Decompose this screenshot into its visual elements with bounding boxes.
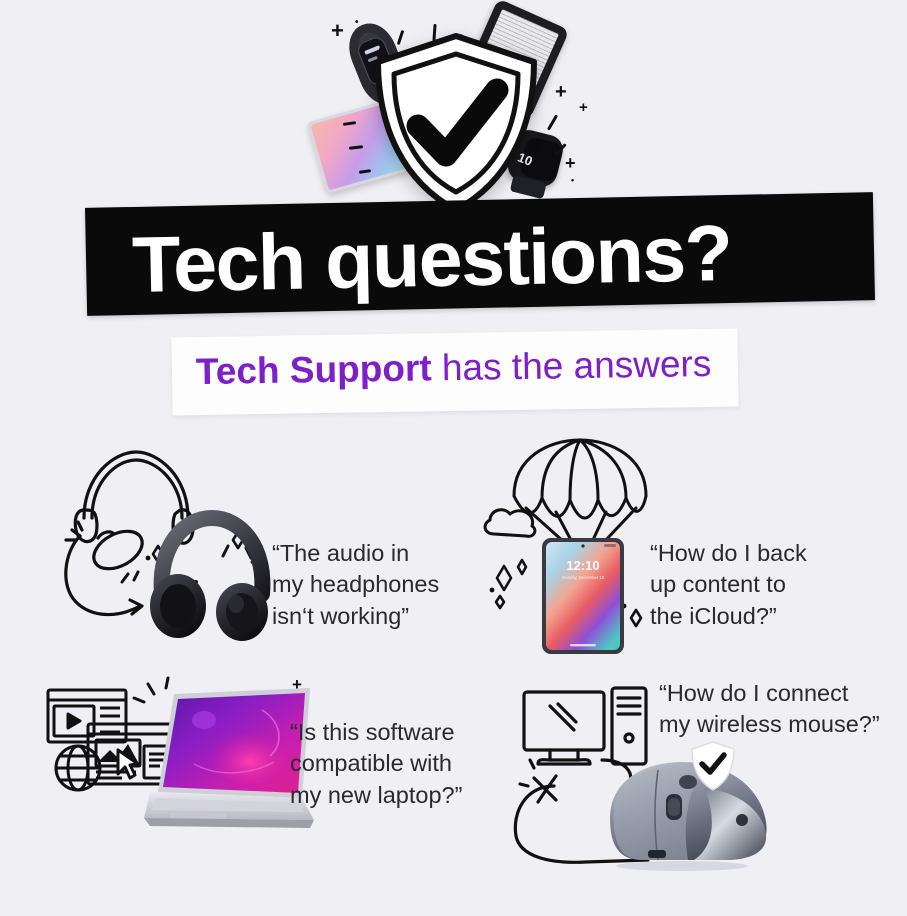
hero-illustration: 10 + • + + + •	[0, 0, 907, 215]
subtitle-banner: Tech Support has the answers	[171, 329, 738, 416]
shield-check-badge-icon	[690, 740, 736, 792]
promo-graphic: 10 + • + + + •	[0, 0, 907, 916]
subtitle: Tech Support has the answers	[196, 343, 712, 393]
headline-banner: Tech questions?	[85, 192, 875, 316]
tablet-photo: 12:10 Monday, December 10	[542, 538, 624, 654]
subtitle-bold: Tech Support	[196, 347, 432, 392]
subtitle-normal: has the answers	[431, 343, 711, 388]
sparkle-ray-icon	[547, 114, 558, 130]
quote-text-software: “Is this software compatible with my new…	[290, 717, 462, 811]
sparkle-dot-icon: •	[571, 176, 574, 185]
sparkle-plus-icon: +	[555, 82, 567, 102]
headphones-illustration	[62, 440, 277, 655]
headphones-photo	[148, 508, 276, 644]
mouse-photo	[584, 748, 774, 870]
page-title: Tech questions?	[131, 207, 732, 311]
quote-text-headphones: “The audio in my headphones isn‘t workin…	[272, 538, 439, 632]
sparkle-plus-icon: +	[579, 100, 588, 115]
quote-text-mouse: “How do I connect my wireless mouse?”	[659, 678, 880, 741]
sparkle-dot-icon: •	[355, 18, 359, 28]
icloud-illustration: 12:10 Monday, December 10	[480, 438, 665, 658]
quote-text-icloud: “How do I back up content to the iCloud?…	[650, 538, 807, 632]
laptop-photo	[142, 686, 314, 844]
sparkle-plus-icon: +	[565, 154, 576, 172]
sparkle-plus-icon: +	[331, 20, 344, 42]
svg-text:Monday, December 10: Monday, December 10	[562, 575, 605, 580]
software-illustration: + +	[30, 668, 315, 853]
svg-text:12:10: 12:10	[566, 558, 599, 573]
shield-check-icon	[371, 32, 541, 214]
